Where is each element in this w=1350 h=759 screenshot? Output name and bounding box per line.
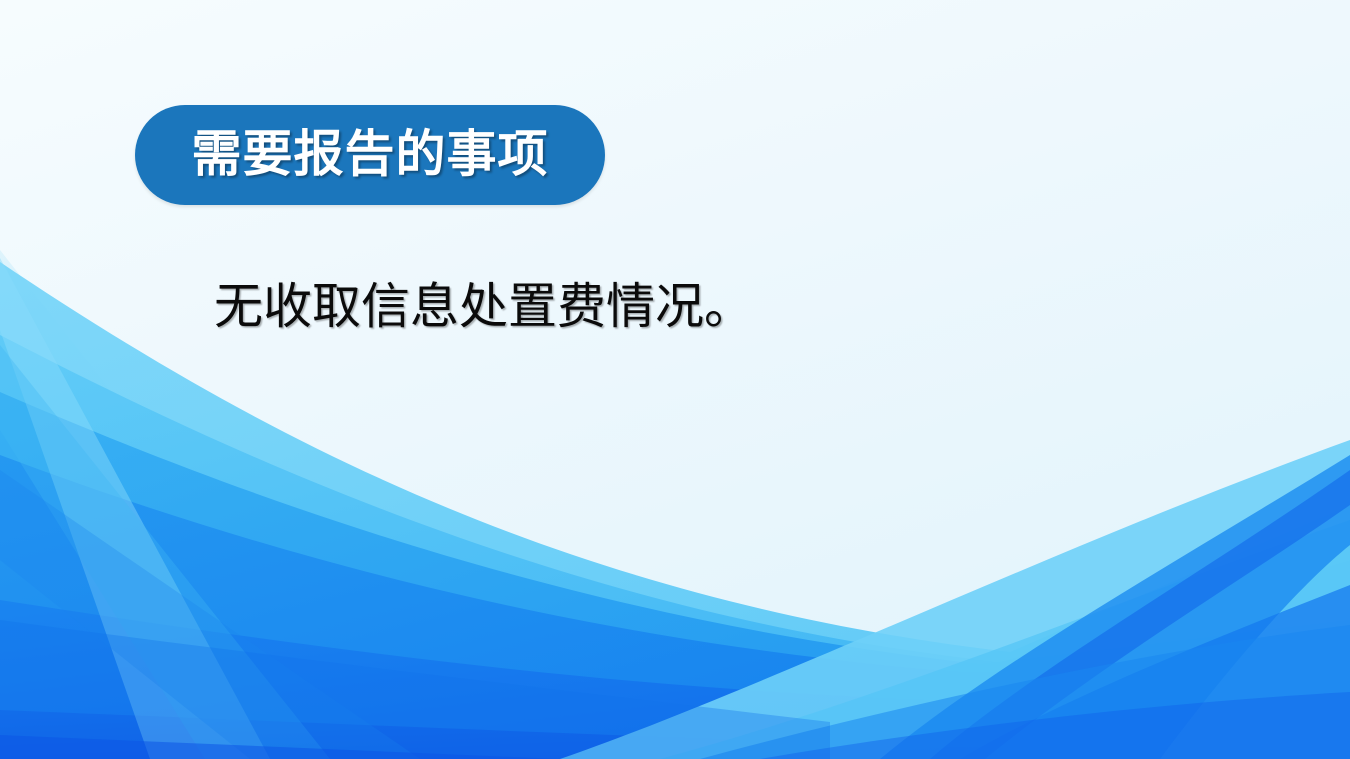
presentation-slide: 需要报告的事项 无收取信息处置费情况。: [0, 0, 1350, 759]
slide-body-paragraph: 无收取信息处置费情况。: [214, 279, 753, 337]
slide-title-text: 需要报告的事项: [192, 129, 549, 179]
slide-title-pill: 需要报告的事项: [135, 105, 605, 205]
